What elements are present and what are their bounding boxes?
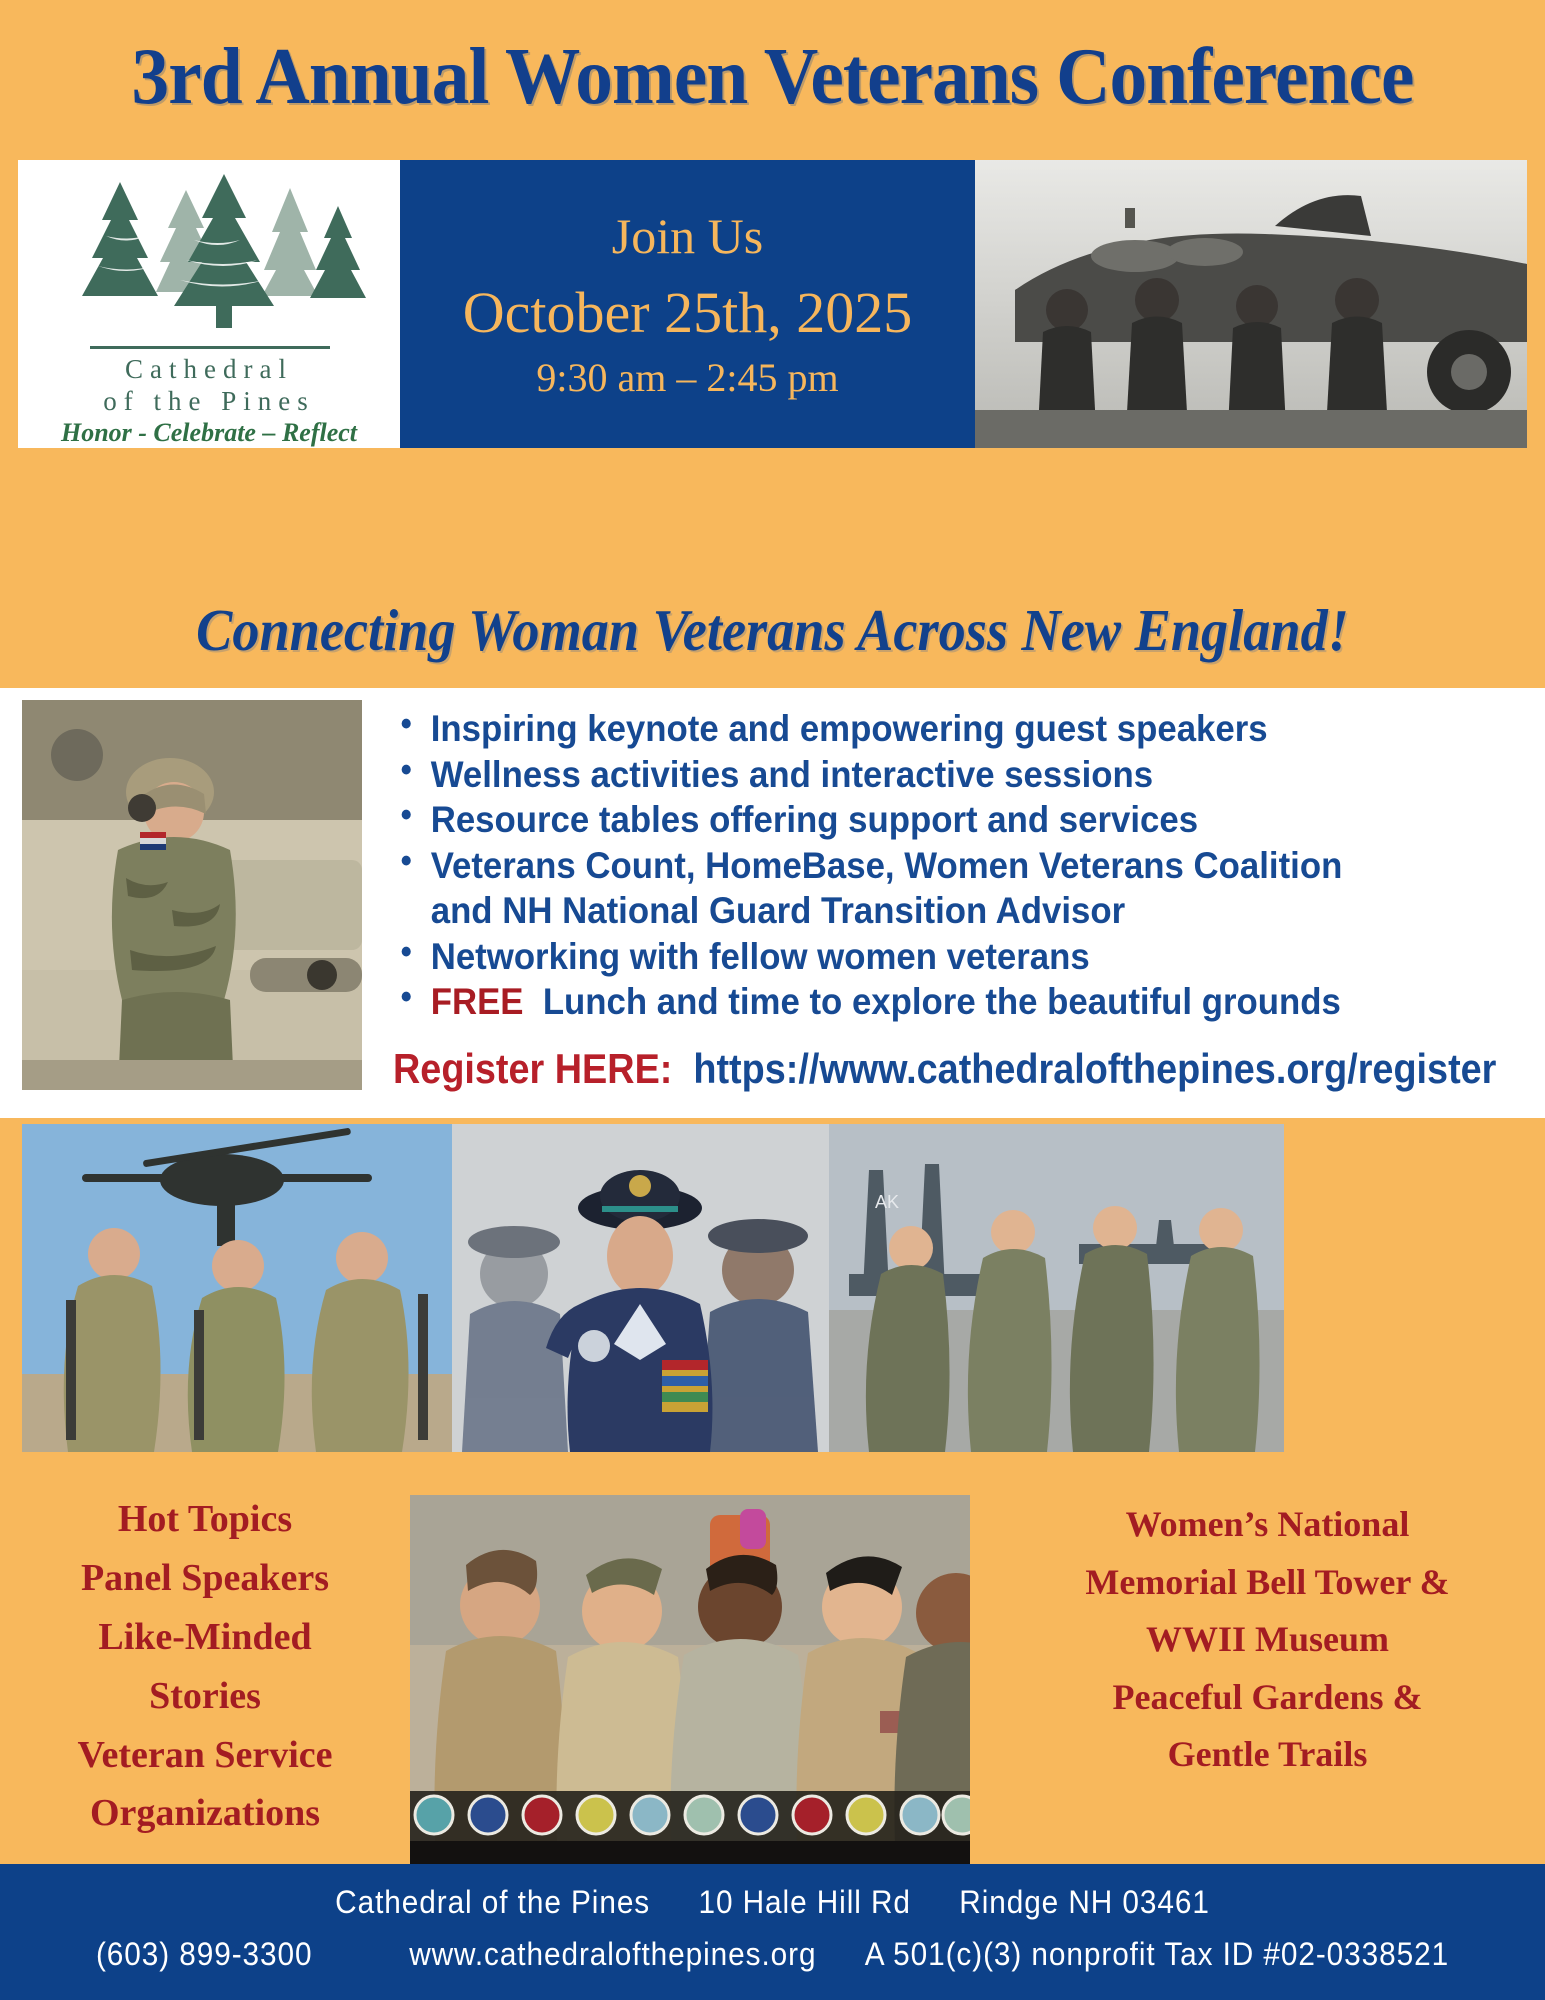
bullet-text: Resource tables offering support and ser… (431, 799, 1198, 840)
bullet-text: Wellness activities and interactive sess… (431, 754, 1153, 795)
servicewomen-group-photo (410, 1495, 970, 1865)
highlight-item: Gentle Trails (1000, 1726, 1535, 1784)
bullet-list-items: Inspiring keynote and empowering guest s… (395, 706, 1535, 1025)
highlight-item: WWII Museum (1000, 1611, 1535, 1669)
flightline-photo-graphic: AK (829, 1124, 1284, 1452)
fighter-pilots-flightline-photo: AK (829, 1124, 1284, 1452)
list-item: Inspiring keynote and empowering guest s… (395, 706, 1467, 752)
highlight-item: Panel Speakers (10, 1549, 400, 1608)
header-row: Cathedral of the Pines Honor - Celebrate… (18, 160, 1527, 448)
logo-word-cathedral: Cathedral (18, 354, 400, 385)
footer-address-line: Cathedral of the Pines10 Hale Hill RdRin… (54, 1884, 1491, 1921)
highlight-item: Hot Topics (10, 1490, 400, 1549)
tagline-banner: Connecting Woman Veterans Across New Eng… (0, 596, 1545, 665)
tagline-text: Connecting Woman Veterans Across New Eng… (196, 596, 1349, 665)
svg-text:AK: AK (875, 1192, 899, 1212)
footer-phone: (603) 899-3300 (96, 1936, 313, 1972)
highlight-item: Stories (10, 1667, 400, 1726)
list-item: Wellness activities and interactive sess… (395, 752, 1467, 798)
footer-nonprofit: A 501(c)(3) nonprofit Tax ID #02-0338521 (865, 1936, 1449, 1972)
pine-trees-icon (18, 166, 400, 336)
footer-citystate: Rindge NH 03461 (959, 1884, 1210, 1920)
highlight-item: Like-Minded (10, 1608, 400, 1667)
register-url-link[interactable]: https://www.cathedralofthepines.org/regi… (693, 1045, 1496, 1092)
list-item: Networking with fellow women veterans (395, 934, 1467, 980)
free-bullet-text: Lunch and time to explore the beautiful … (543, 981, 1341, 1022)
highlight-item: Peaceful Gardens & (1000, 1669, 1535, 1727)
list-item-free: FREE Lunch and time to explore the beaut… (395, 979, 1467, 1025)
conference-flyer: 3rd Annual Women Veterans Conference (0, 0, 1545, 2000)
highlights-left-column: Hot Topics Panel Speakers Like-Minded St… (10, 1490, 400, 1843)
bullet-text: and NH National Guard Transition Advisor (431, 890, 1125, 931)
footer-org: Cathedral of the Pines (335, 1884, 650, 1920)
flyer-title: 3rd Annual Women Veterans Conference (0, 36, 1545, 117)
highlight-item: Memorial Bell Tower & (1000, 1554, 1535, 1612)
footer-website[interactable]: www.cathedralofthepines.org (409, 1936, 816, 1972)
join-us-panel: Join Us October 25th, 2025 9:30 am – 2:4… (400, 160, 975, 448)
helicopter-photo-graphic (22, 1124, 452, 1452)
highlight-item: Women’s National (1000, 1496, 1535, 1554)
event-time: 9:30 am – 2:45 pm (536, 354, 838, 401)
register-line: Register HERE: https://www.cathedralofth… (393, 1045, 1496, 1093)
logo-tagline: Honor - Celebrate – Reflect (18, 418, 400, 448)
list-item-continuation: and NH National Guard Transition Advisor (395, 888, 1467, 934)
saluting-airwomen-photo (452, 1124, 829, 1452)
highlight-item: Organizations (10, 1784, 400, 1843)
bullet-list: Inspiring keynote and empowering guest s… (395, 706, 1535, 1025)
footer-street: 10 Hale Hill Rd (698, 1884, 910, 1920)
female-soldier-photo (22, 700, 362, 1090)
helicopter-soldiers-photo (22, 1124, 452, 1452)
logo-word-of-the-pines: of the Pines (18, 386, 400, 417)
soldier-photo-graphic (22, 700, 362, 1090)
footer-contact-line: (603) 899-3300www.cathedralofthepines.or… (54, 1936, 1491, 1973)
bullet-text: Networking with fellow women veterans (431, 936, 1090, 977)
salute-photo-graphic (452, 1124, 829, 1452)
free-highlight: FREE (431, 981, 524, 1022)
highlight-item: Veteran Service (10, 1726, 400, 1785)
logo-divider (90, 346, 330, 349)
join-us-heading: Join Us (612, 207, 763, 265)
list-item: Resource tables offering support and ser… (395, 797, 1467, 843)
cathedral-of-the-pines-logo: Cathedral of the Pines Honor - Celebrate… (18, 160, 400, 448)
list-item: Veterans Count, HomeBase, Women Veterans… (395, 843, 1467, 889)
highlights-right-column: Women’s National Memorial Bell Tower & W… (1000, 1496, 1535, 1784)
event-date: October 25th, 2025 (463, 279, 912, 346)
photo-strip: AK (22, 1124, 1525, 1452)
wwii-women-pilots-photo (975, 160, 1527, 448)
wwii-photo-graphic (975, 160, 1527, 448)
register-label: Register HERE: (393, 1045, 672, 1092)
group-photo-graphic (410, 1495, 970, 1865)
flyer-title-text: 3rd Annual Women Veterans Conference (54, 36, 1491, 117)
bullet-text: Veterans Count, HomeBase, Women Veterans… (431, 845, 1343, 886)
footer-bar: Cathedral of the Pines10 Hale Hill RdRin… (0, 1864, 1545, 2000)
bullet-text: Inspiring keynote and empowering guest s… (431, 708, 1268, 749)
